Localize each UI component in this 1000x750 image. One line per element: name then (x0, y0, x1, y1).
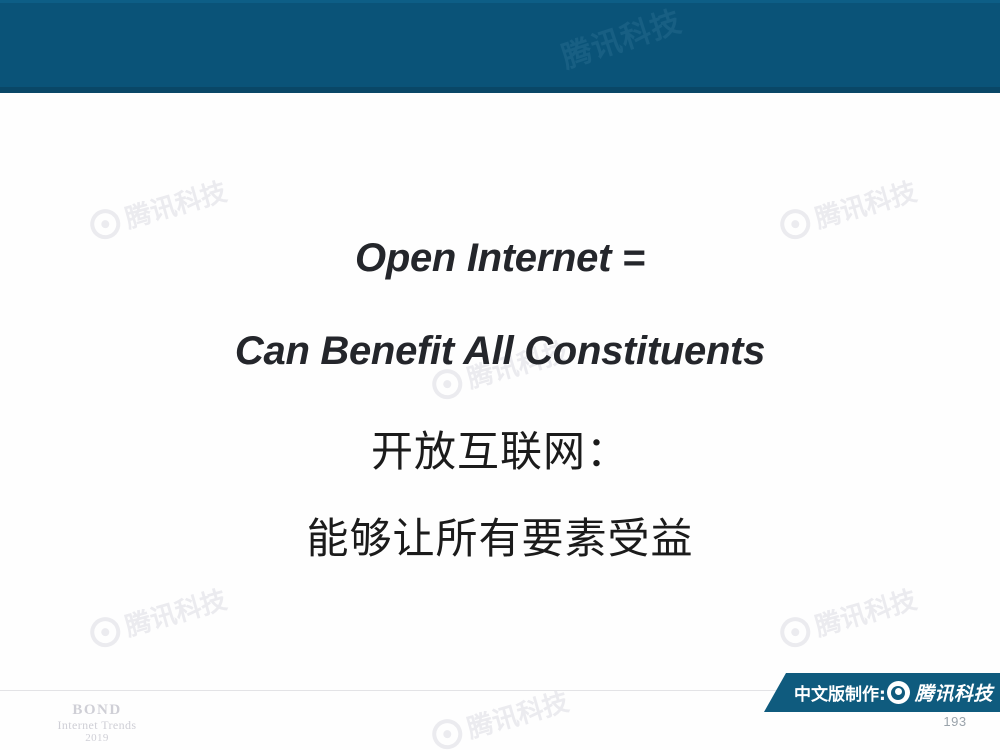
bond-logo: BOND Internet Trends 2019 (22, 702, 172, 745)
tencent-watermark-icon (429, 715, 466, 750)
headline-chinese-line-2: 能够让所有要素受益 (306, 505, 693, 566)
bond-logo-year: 2019 (22, 732, 172, 744)
header-watermark: 腾讯科技 (552, 0, 688, 93)
watermark-label: 腾讯科技 (462, 681, 572, 745)
headline-english-line-2: Can Benefit All Constituents (235, 329, 765, 374)
header-band: 腾讯科技 (0, 0, 1000, 93)
watermark-tencent: 腾讯科技 (428, 681, 573, 750)
headline-english-line-1: Open Internet = (355, 236, 645, 281)
page-number: 193 (930, 714, 980, 729)
slide-content: Open Internet = Can Benefit All Constitu… (0, 93, 1000, 690)
credit-label: 中文版制作: (794, 680, 886, 705)
translation-credit-banner: 中文版制作: 腾讯科技 (764, 673, 1000, 712)
slide-canvas: 腾讯科技 腾讯科技 腾讯科技 腾讯科技 腾讯科技 腾讯科技 腾讯科技 Open … (0, 0, 1000, 750)
bond-logo-name: BOND (22, 702, 172, 719)
headline-chinese-line-1: 开放互联网： (371, 418, 629, 479)
header-band-top-edge (0, 0, 1000, 3)
tencent-logo-icon (887, 681, 910, 704)
credit-brand-name: 腾讯科技 (915, 679, 993, 706)
footer-divider (0, 690, 790, 691)
bond-logo-subtitle: Internet Trends (22, 719, 172, 732)
